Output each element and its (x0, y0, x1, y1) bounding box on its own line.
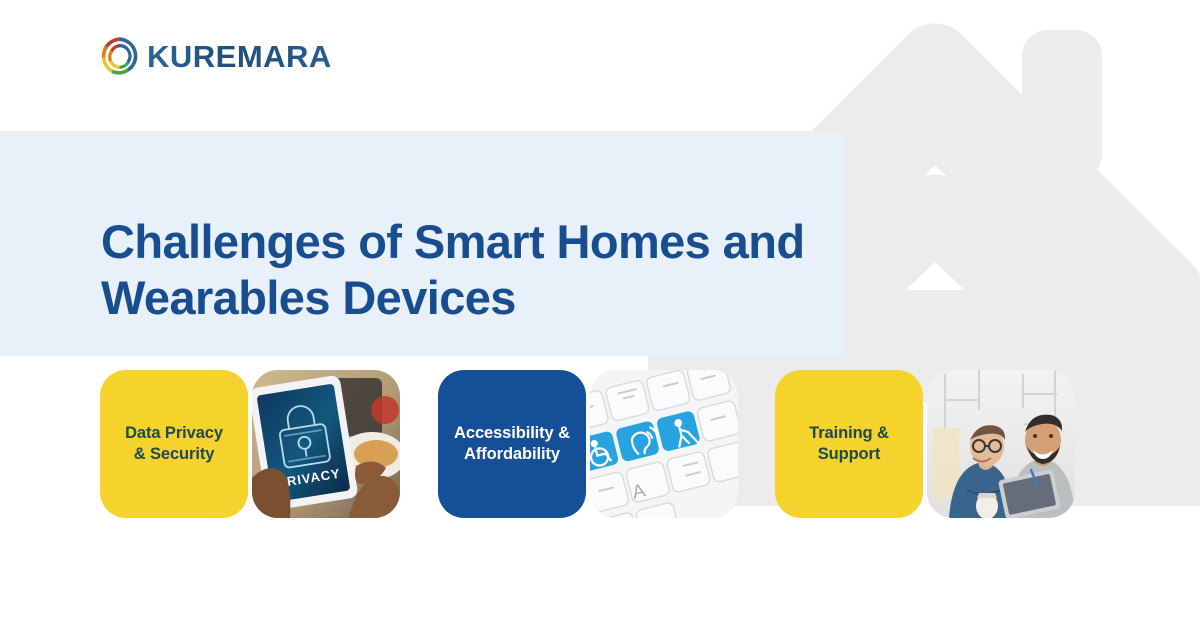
two-men-tablet-photo (927, 370, 1075, 518)
topic-label-line2: Affordability (464, 445, 560, 463)
brand-name: KUREMARA (147, 41, 332, 72)
topic-label-line2: Support (818, 445, 881, 463)
topic-label-card[interactable]: Data Privacy & Security (100, 370, 248, 518)
topic-card-data-privacy[interactable]: Data Privacy & Security (100, 370, 400, 520)
topic-label-line1: Accessibility & (454, 424, 570, 442)
kuremara-swirl-icon (100, 36, 140, 76)
accessibility-keyboard-photo: A (590, 370, 738, 518)
page-title-line2: Wearables Devices (101, 271, 516, 324)
topic-label-line1: Data Privacy (125, 424, 223, 442)
topic-card-accessibility[interactable]: Accessibility & Affordability (438, 370, 738, 520)
page-title: Challenges of Smart Homes and Wearables … (101, 214, 841, 325)
topic-label-card[interactable]: Training & Support (775, 370, 923, 518)
topic-card-training-support[interactable]: Training & Support (775, 370, 1075, 520)
topic-label-line2: & Security (134, 445, 215, 463)
page-title-line1: Challenges of Smart Homes and (101, 215, 804, 268)
topic-card-row: Data Privacy & Security (0, 370, 1200, 520)
banner-canvas: KUREMARA Challenges of Smart Homes and W… (0, 0, 1200, 630)
topic-label-text: Data Privacy & Security (125, 423, 223, 465)
topic-label-line1: Training & (809, 424, 889, 442)
tablet-privacy-lock-photo: PRIVACY (252, 370, 400, 518)
brand-logo[interactable]: KUREMARA (100, 36, 332, 76)
topic-label-text: Accessibility & Affordability (454, 423, 570, 465)
topic-label-text: Training & Support (809, 423, 889, 465)
topic-label-card[interactable]: Accessibility & Affordability (438, 370, 586, 518)
